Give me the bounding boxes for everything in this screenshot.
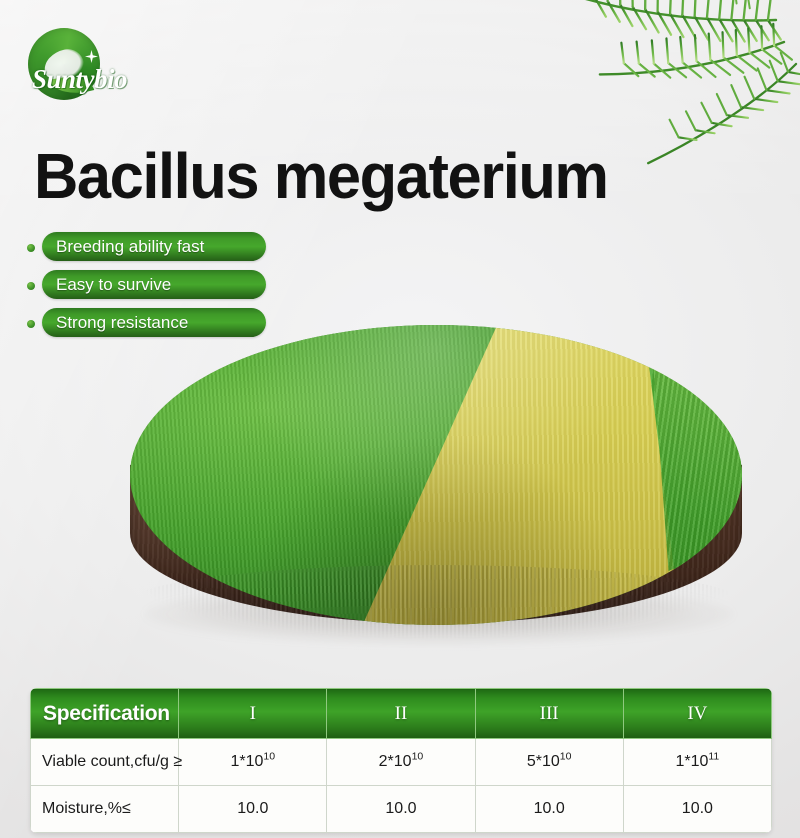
cell-exponent: 10 [560, 751, 572, 763]
cell-moisture-1: 10.0 [179, 786, 327, 833]
cell-exponent: 11 [708, 751, 719, 763]
cell-viable-count-4: 1*1011 [623, 739, 771, 786]
cell-base: 1*10 [230, 753, 263, 770]
feature-label: Breeding ability fast [56, 232, 204, 261]
product-poster: Suntybio Bacillus megaterium Breeding ab… [0, 0, 800, 838]
cell-exponent: 10 [263, 751, 275, 763]
cell-exponent: 10 [412, 751, 424, 763]
field-surface [130, 325, 742, 625]
cell-base: 2*10 [379, 753, 412, 770]
cell-moisture-3: 10.0 [475, 786, 623, 833]
bullet-dot-icon [27, 244, 35, 252]
table-row: Moisture,%≤ 10.0 10.0 10.0 10.0 [31, 786, 772, 833]
logo-wordmark: Suntybio [32, 64, 127, 95]
row-label-viable-count: Viable count,cfu/g ≥ [31, 739, 179, 786]
cell-viable-count-3: 5*1010 [475, 739, 623, 786]
cell-moisture-2: 10.0 [327, 786, 475, 833]
cell-base: 1*10 [675, 753, 708, 770]
bullet-dot-icon [27, 282, 35, 290]
column-header-specification: Specification [31, 689, 179, 739]
row-label-moisture: Moisture,%≤ [31, 786, 179, 833]
bullet-dot-icon [27, 320, 35, 328]
table-header: Specification I II III IV [31, 689, 772, 739]
cell-viable-count-1: 1*1010 [179, 739, 327, 786]
column-header-grade-1: I [179, 689, 327, 739]
cell-moisture-4: 10.0 [623, 786, 771, 833]
table-body: Viable count,cfu/g ≥ 1*1010 2*1010 5*101… [31, 739, 772, 833]
column-header-grade-3: III [475, 689, 623, 739]
column-header-grade-2: II [327, 689, 475, 739]
feature-item: Breeding ability fast [22, 232, 282, 263]
cell-viable-count-2: 2*1010 [327, 739, 475, 786]
specification-table: Specification I II III IV Viable count,c… [30, 688, 772, 833]
logo-wordmark-text: Suntybio [32, 64, 127, 94]
page-title: Bacillus megaterium [34, 144, 608, 208]
feature-label: Easy to survive [56, 270, 171, 299]
table-header-row: Specification I II III IV [31, 689, 772, 739]
feature-item: Easy to survive [22, 270, 282, 301]
column-header-grade-4: IV [623, 689, 771, 739]
brand-logo[interactable]: Suntybio [22, 26, 142, 106]
palm-frond-icon [508, 0, 800, 251]
field-soil-disc-illustration [122, 315, 762, 665]
table-row: Viable count,cfu/g ≥ 1*1010 2*1010 5*101… [31, 739, 772, 786]
cell-base: 5*10 [527, 753, 560, 770]
